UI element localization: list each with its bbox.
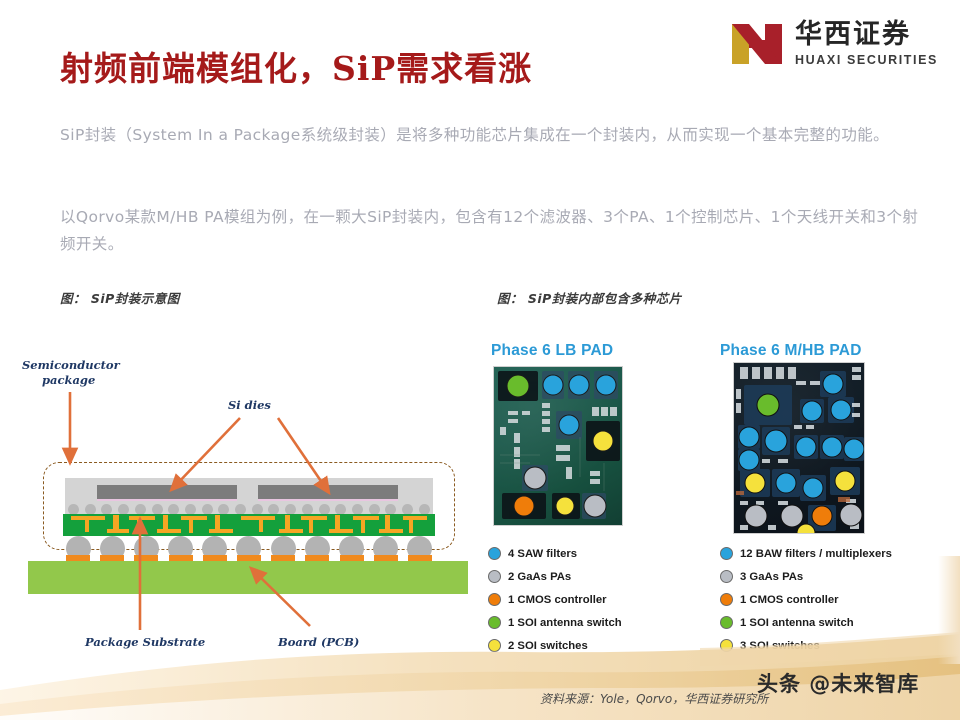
legend-label: 1 SOI antenna switch xyxy=(740,617,854,629)
legend-item: 4 SAW filters xyxy=(488,542,622,565)
pcb-photo-lb-pad xyxy=(493,366,623,526)
brand-logo: 华西证券 HUAXI SECURITIES xyxy=(729,18,938,70)
legend-item: 3 GaAs PAs xyxy=(720,565,892,588)
legend-item: 2 GaAs PAs xyxy=(488,565,622,588)
qorvo-pad-photos: Phase 6 LB PAD Phase 6 M/HB PAD xyxy=(480,330,960,675)
figure-caption-right: 图： SiP封装内部包含多种芯片 xyxy=(497,288,682,307)
pad-2-title: Phase 6 M/HB PAD xyxy=(720,342,862,360)
legend-label: 2 GaAs PAs xyxy=(508,571,571,583)
legend-color-dot xyxy=(488,547,501,560)
legend-item: 1 CMOS controller xyxy=(720,588,892,611)
legend-item: 1 CMOS controller xyxy=(488,588,622,611)
legend-color-dot xyxy=(488,570,501,583)
huaxi-h-mark-icon xyxy=(729,18,785,70)
source-note: 资料来源：Yole，Qorvo，华西证券研究所 xyxy=(540,690,768,707)
legend-color-dot xyxy=(720,616,733,629)
substrate-traces xyxy=(63,513,435,537)
logo-text-block: 华西证券 HUAXI SECURITIES xyxy=(795,21,938,67)
legend-color-dot xyxy=(720,593,733,606)
legend-label: 12 BAW filters / multiplexers xyxy=(740,548,892,560)
pcb-photo-mhb-pad xyxy=(733,362,865,534)
si-die-1 xyxy=(97,485,237,501)
si-die-2 xyxy=(258,485,398,501)
right-edge-decoration xyxy=(938,556,960,664)
legend-item: 12 BAW filters / multiplexers xyxy=(720,542,892,565)
legend-color-dot xyxy=(488,593,501,606)
legend-color-dot xyxy=(488,616,501,629)
legend-label: 1 SOI antenna switch xyxy=(508,617,622,629)
label-semiconductor-package: Semiconductor package xyxy=(22,358,120,388)
logo-chinese-name: 华西证券 xyxy=(795,21,938,48)
page-title: 射频前端模组化，SiP需求看涨 xyxy=(60,42,532,90)
legend-label: 3 GaAs PAs xyxy=(740,571,803,583)
legend-color-dot xyxy=(720,570,733,583)
pcb-board-layer xyxy=(28,561,468,594)
legend-label: 1 CMOS controller xyxy=(508,594,607,606)
legend-color-dot xyxy=(720,547,733,560)
pad-1-title: Phase 6 LB PAD xyxy=(491,342,613,360)
label-si-dies: Si dies xyxy=(228,398,271,413)
figure-caption-left: 图： SiP封装示意图 xyxy=(60,288,180,307)
legend-label: 1 CMOS controller xyxy=(740,594,839,606)
watermark: 头条 @未来智库 xyxy=(757,668,919,698)
body-paragraph-2: 以Qorvo某款M/HB PA模组为例，在一颗大SiP封装内，包含有12个滤波器… xyxy=(60,204,920,258)
legend-label: 4 SAW filters xyxy=(508,548,577,560)
logo-english-name: HUAXI SECURITIES xyxy=(795,54,938,67)
sip-cross-section-diagram: Semiconductor package Si dies Package Su… xyxy=(0,330,480,670)
slide-canvas: 华西证券 HUAXI SECURITIES 射频前端模组化，SiP需求看涨 Si… xyxy=(0,0,960,720)
body-paragraph-1: SiP封装（System In a Package系统级封装）是将多种功能芯片集… xyxy=(60,122,920,149)
